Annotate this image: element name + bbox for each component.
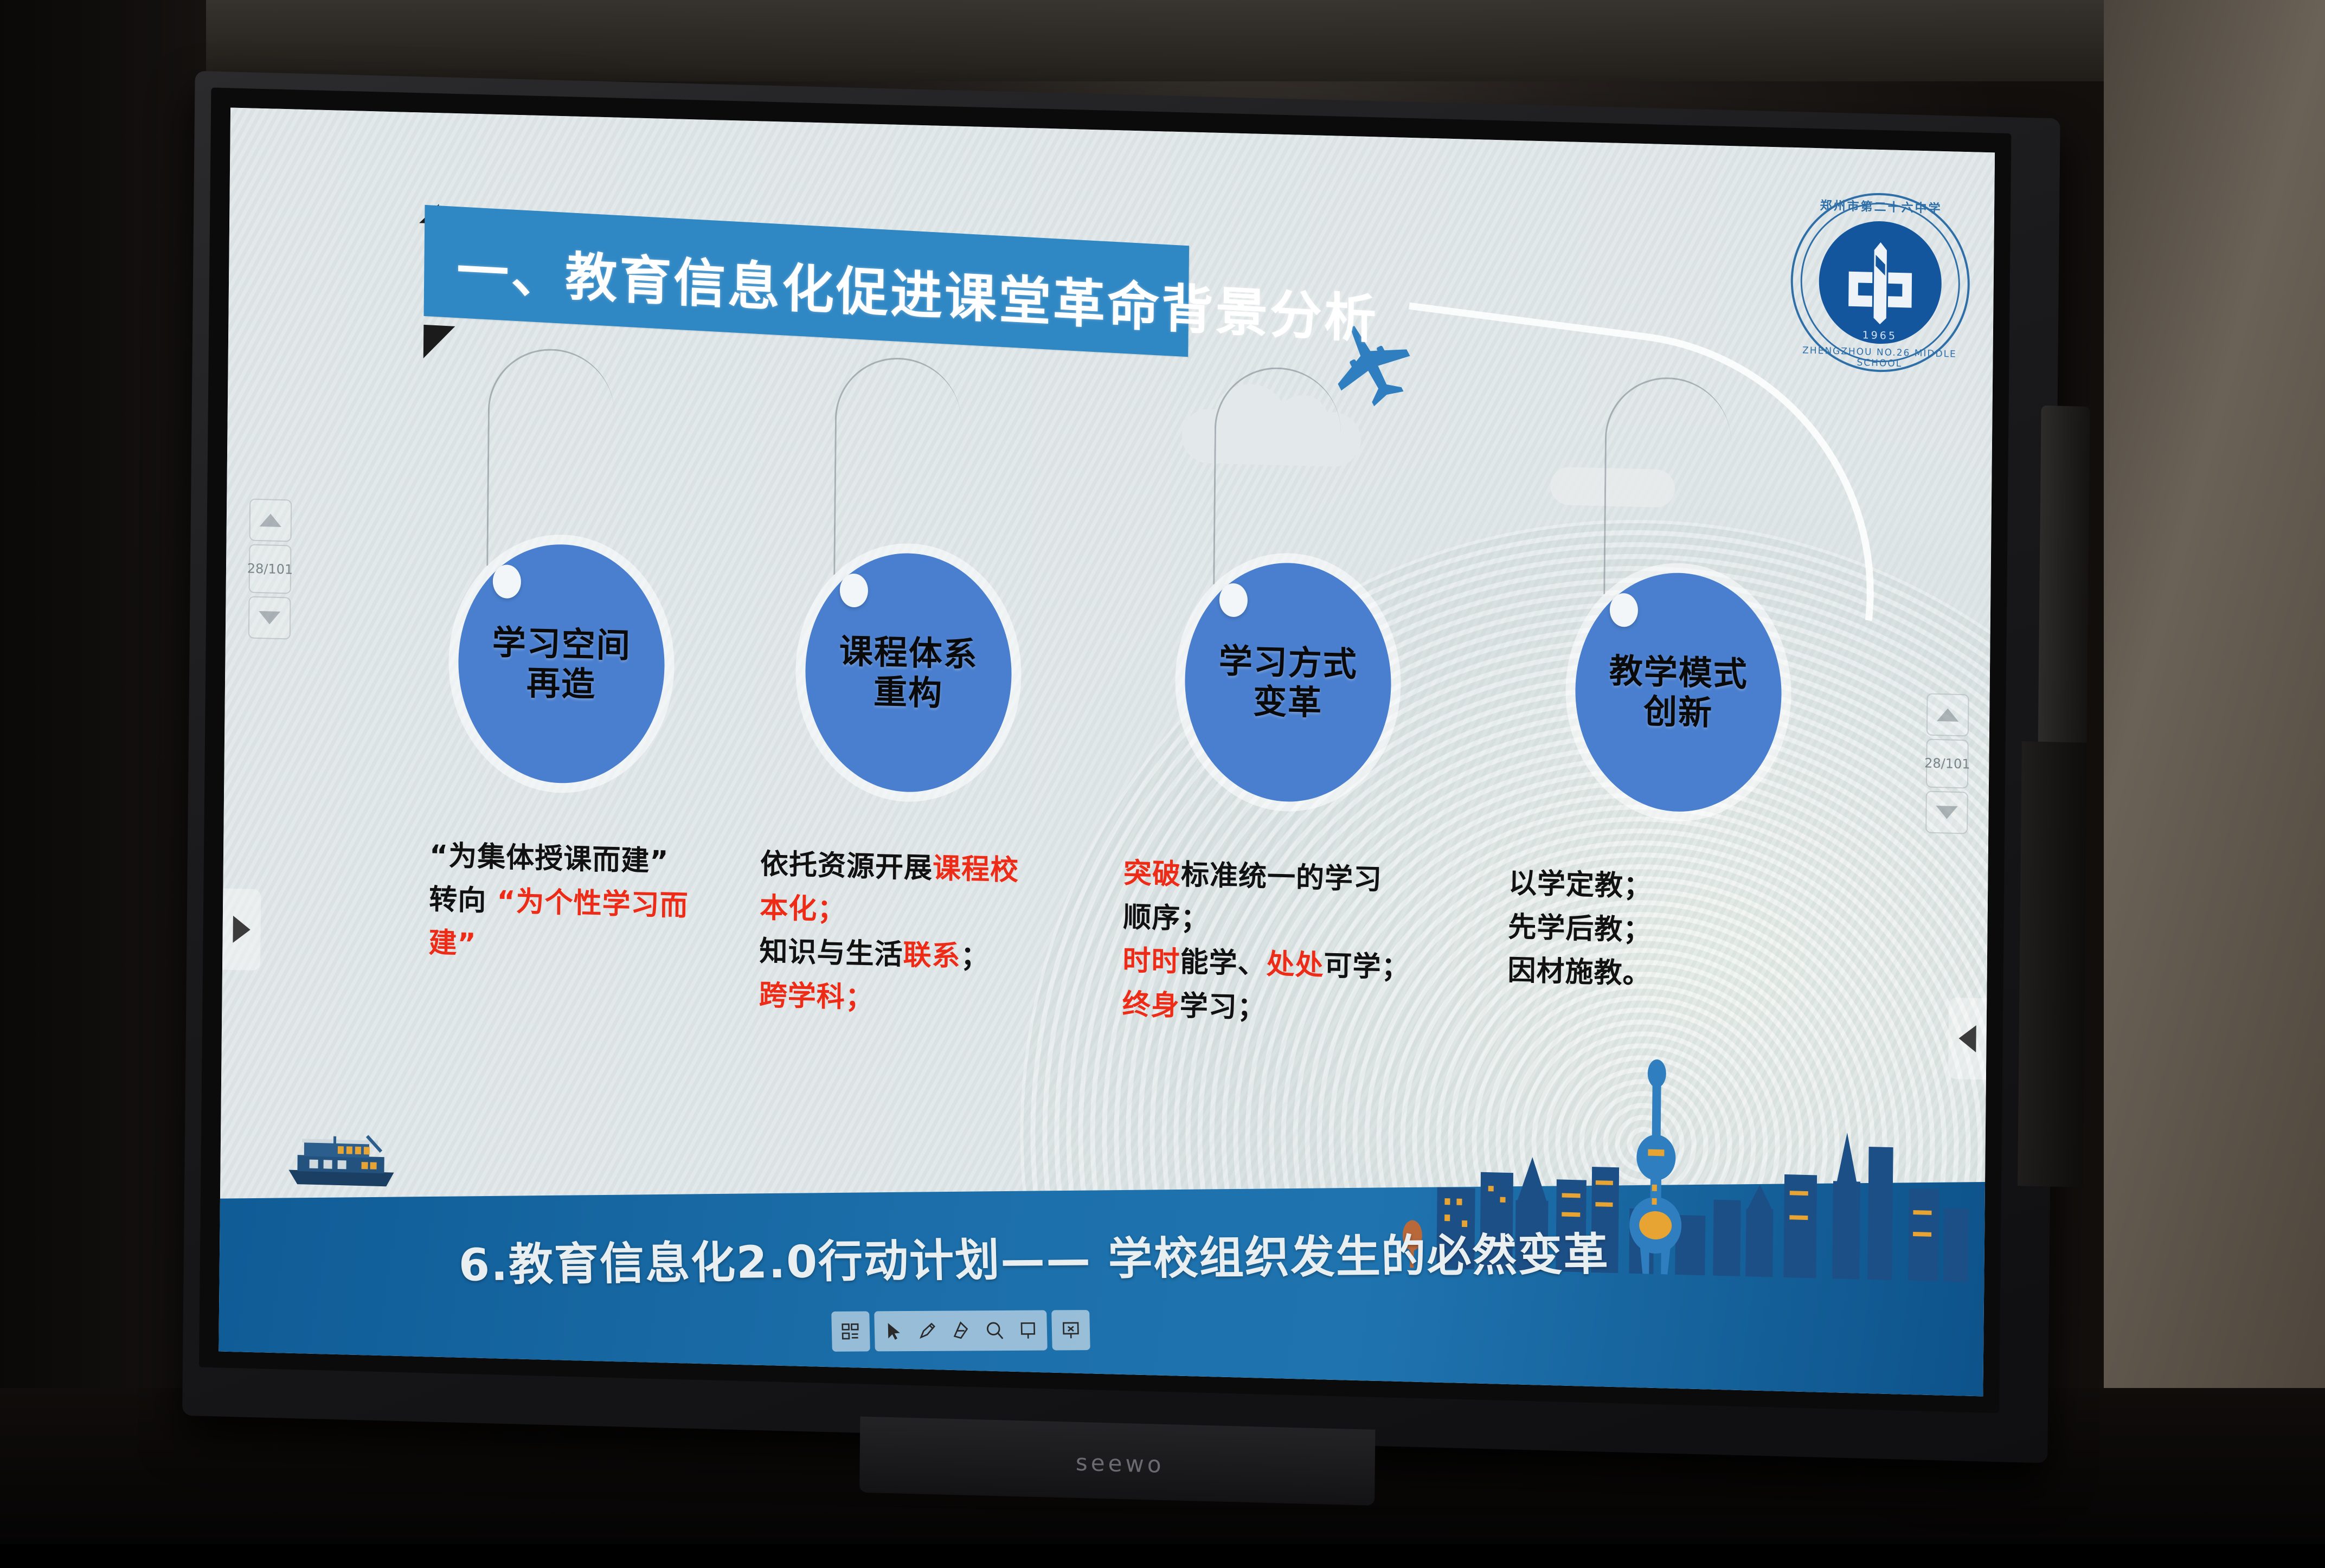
triangle-down-icon [259, 611, 280, 625]
highlighted-text: 本化； [760, 891, 846, 926]
interactive-display-monitor: seewo 一、教育信息化促进课堂革命背景分析 [165, 54, 2131, 1568]
description-line: “为集体授课而建” [429, 834, 712, 885]
osd-next-button-right[interactable] [1925, 791, 1968, 834]
bubble-label: 教学模式 创新 [1574, 570, 1782, 814]
triangle-right-icon [233, 916, 250, 943]
osd-next-button-left[interactable] [248, 596, 291, 640]
ppt-toolbar-group-end [1051, 1310, 1090, 1350]
triangle-up-icon [260, 513, 281, 527]
description-line: 以学定教； [1508, 862, 1791, 912]
plain-text: 先学后教； [1508, 910, 1652, 947]
hook-line [1213, 366, 1341, 588]
bubble-node-2[interactable]: 课程体系 重构 [799, 534, 1018, 800]
banner-corner-bottom [423, 325, 455, 360]
monitor-side-bracket-lower [2018, 741, 2087, 1187]
plain-text: 因材施教。 [1507, 954, 1652, 991]
monitor-side-bracket [2038, 406, 2090, 754]
plain-text: 能学、 [1180, 946, 1267, 981]
osd-page-indicator-right: 28/101 [1926, 738, 1969, 788]
ppt-toolbar-group-tools [874, 1310, 1048, 1352]
highlighted-text: 时时 [1122, 944, 1180, 979]
highlighted-text: 建” [428, 927, 477, 960]
bubble-label-line2: 重构 [874, 672, 943, 713]
presentation-slide: 一、教育信息化促进课堂革命背景分析 1965 ZHENGZHOU NO.26 M… [219, 107, 1995, 1396]
osd-nav-left[interactable]: 28/101 [248, 499, 290, 643]
highlighted-text: 联系 [903, 939, 961, 973]
pointer-icon[interactable] [876, 1314, 910, 1348]
plain-text: 依托资源开展 [760, 848, 933, 885]
edge-tab-left[interactable] [222, 888, 261, 971]
description-line: 本化； [760, 886, 1042, 937]
slide-grid-icon[interactable] [833, 1314, 868, 1348]
edge-tab-right[interactable] [1948, 998, 1987, 1080]
highlighted-text: 处处 [1266, 948, 1324, 982]
bubble-label-line1: 教学模式 [1609, 651, 1748, 694]
triangle-down-icon [1936, 806, 1957, 819]
footer-text: 6.教育信息化2.0行动计划—— 学校组织发生的必然变革 [458, 1217, 1760, 1294]
description-column-3: 突破标准统一的学习顺序；时时能学、处处可学；终身学习； [1122, 852, 1470, 1036]
description-column-1: “为集体授课而建”转向 “为个性学习而建” [428, 834, 711, 972]
hook-line [833, 356, 962, 578]
description-column-2: 依托资源开展课程校本化；知识与生活联系；跨学科； [759, 843, 1042, 1025]
ferry-boat-icon [285, 1131, 410, 1194]
logo-chinese-name: 郑州市第二十六中学 [1791, 195, 1970, 217]
description-line: 先学后教； [1508, 905, 1790, 956]
plain-text: ； [960, 940, 990, 973]
triangle-left-icon [1958, 1025, 1976, 1052]
plain-text: 标准统一的学习 [1181, 858, 1383, 896]
plain-text: 可学； [1324, 949, 1410, 984]
description-line: 知识与生活联系； [759, 930, 1042, 981]
description-line: 突破标准统一的学习 [1123, 852, 1471, 904]
plain-text: 以学定教； [1508, 867, 1653, 903]
plain-text: 学习； [1180, 989, 1267, 1024]
pen-icon[interactable] [910, 1314, 944, 1348]
bubble-label: 学习方式 变革 [1184, 561, 1392, 805]
slide-title-banner: 一、教育信息化促进课堂革命背景分析 [424, 205, 1190, 357]
magnifier-icon[interactable] [977, 1314, 1011, 1347]
plain-text: 转向 [429, 883, 497, 917]
highlighted-text: 课程校 [933, 852, 1019, 887]
description-line: 转向 “为个性学习而 [429, 878, 711, 929]
bubble-label: 学习空间 再造 [457, 542, 665, 786]
highlighted-text: “为个性学习而 [497, 885, 689, 922]
logo-latin-name: ZHENGZHOU NO.26 MIDDLE SCHOOL [1790, 345, 1969, 371]
description-line: 终身学习； [1122, 983, 1469, 1036]
slide-title: 一、教育信息化促进课堂革命背景分析 [457, 228, 1379, 353]
laser-pointer-icon[interactable] [1011, 1314, 1045, 1347]
screen: 一、教育信息化促进课堂革命背景分析 1965 ZHENGZHOU NO.26 M… [219, 107, 1995, 1396]
plain-text: “为集体授课而建” [429, 839, 669, 878]
osd-prev-button-right[interactable] [1926, 693, 1969, 736]
ppt-toolbar-group-slides [831, 1311, 870, 1351]
highlighted-text: 突破 [1123, 857, 1181, 891]
bubble-label-line2: 再造 [526, 663, 596, 704]
bubble-node-1[interactable]: 学习空间 再造 [452, 525, 671, 791]
description-line: 跨学科； [759, 973, 1041, 1024]
description-line: 建” [428, 921, 711, 972]
bubble-label: 课程体系 重构 [804, 551, 1012, 795]
school-logo: 1965 ZHENGZHOU NO.26 MIDDLE SCHOOL 郑州市第二… [1790, 191, 1970, 374]
description-line: 依托资源开展课程校 [760, 843, 1043, 894]
osd-page-indicator-left: 28/101 [249, 544, 292, 594]
wall-right [2104, 0, 2325, 1544]
monitor-brand-label: seewo [1011, 1448, 1229, 1486]
bubble-label-line2: 创新 [1643, 691, 1713, 732]
ppt-presenter-toolbar[interactable] [831, 1310, 1095, 1352]
hook-line [486, 348, 615, 569]
description-line: 因材施教。 [1507, 949, 1790, 1000]
bubble-label-line1: 课程体系 [839, 631, 978, 674]
triangle-up-icon [1937, 708, 1958, 722]
highlighter-icon[interactable] [943, 1314, 978, 1347]
bubble-node-3[interactable]: 学习方式 变革 [1178, 544, 1398, 809]
bubble-label-line1: 学习空间 [492, 622, 631, 666]
end-show-icon[interactable] [1054, 1313, 1088, 1347]
description-column-4: 以学定教；先学后教；因材施教。 [1507, 862, 1790, 1000]
highlighted-text: 跨学科； [759, 979, 874, 1014]
highlighted-text: 终身 [1122, 988, 1180, 1023]
plain-text: 顺序； [1123, 901, 1210, 935]
bubble-label-line1: 学习方式 [1218, 641, 1358, 684]
logo-mark-icon [1839, 238, 1922, 327]
osd-prev-button-left[interactable] [249, 499, 292, 542]
plain-text: 知识与生活 [759, 935, 903, 972]
bubble-label-line2: 变革 [1253, 682, 1323, 723]
bubble-node-4[interactable]: 教学模式 创新 [1569, 554, 1788, 820]
hook-line [1603, 376, 1732, 597]
osd-nav-right[interactable]: 28/101 [1925, 693, 1967, 837]
